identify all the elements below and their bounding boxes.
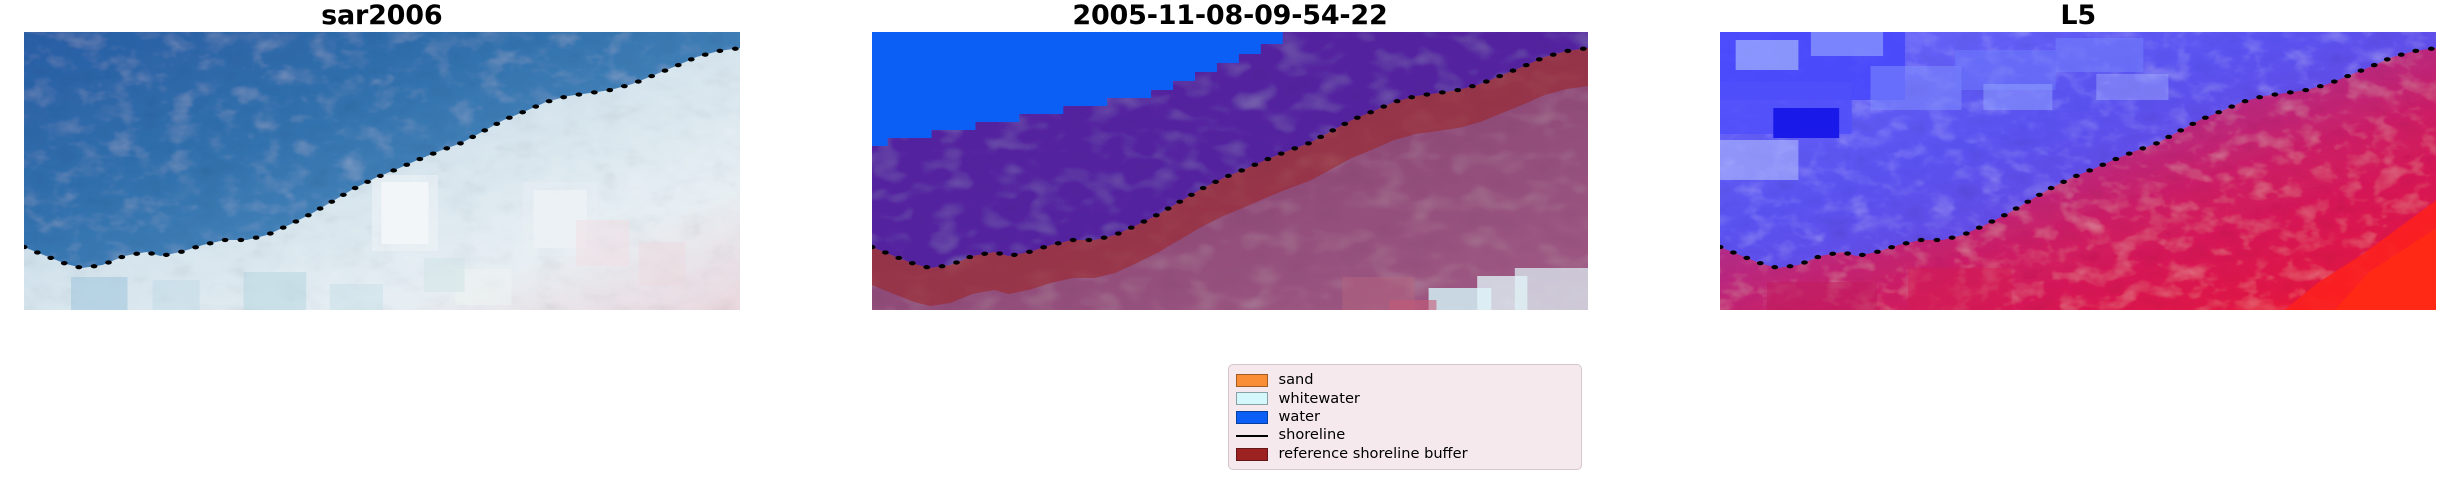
legend-item-sand: sand: [1236, 371, 1573, 389]
raster-sar2006: [24, 32, 741, 310]
axes-image-1: [24, 32, 741, 310]
legend-label-sand: sand: [1278, 373, 1313, 388]
panel-title-1: sar2006: [24, 2, 741, 29]
legend-label-reference-shoreline-buffer: reference shoreline buffer: [1278, 447, 1467, 462]
raster-classified: [872, 32, 1589, 310]
axes-image-3: [1720, 32, 2437, 310]
legend-box: sand whitewater water shoreline referenc…: [1228, 364, 1582, 470]
legend-item-shoreline: shoreline: [1236, 427, 1573, 445]
legend-item-reference-shoreline-buffer: reference shoreline buffer: [1236, 445, 1573, 463]
legend-swatch-sand: [1236, 374, 1268, 387]
legend-label-shoreline: shoreline: [1278, 428, 1345, 443]
legend-swatch-shoreline: [1236, 429, 1268, 442]
panel-sar2006: sar2006: [24, 32, 741, 310]
figure-canvas: sar2006: [0, 0, 2460, 501]
raster-l5: [1720, 32, 2437, 310]
legend-swatch-whitewater: [1236, 392, 1268, 405]
legend-label-water: water: [1278, 410, 1320, 425]
axes-image-2: [872, 32, 1589, 310]
legend-swatch-reference-shoreline-buffer: [1236, 448, 1268, 461]
legend-item-water: water: [1236, 408, 1573, 426]
panel-classified: 2005-11-08-09-54-22: [872, 32, 1589, 310]
legend-item-whitewater: whitewater: [1236, 390, 1573, 408]
panel-title-3: L5: [1720, 2, 2437, 29]
legend-swatch-water: [1236, 411, 1268, 424]
panel-l5: L5: [1720, 32, 2437, 310]
panel-title-2: 2005-11-08-09-54-22: [872, 2, 1589, 29]
legend-label-whitewater: whitewater: [1278, 392, 1359, 407]
